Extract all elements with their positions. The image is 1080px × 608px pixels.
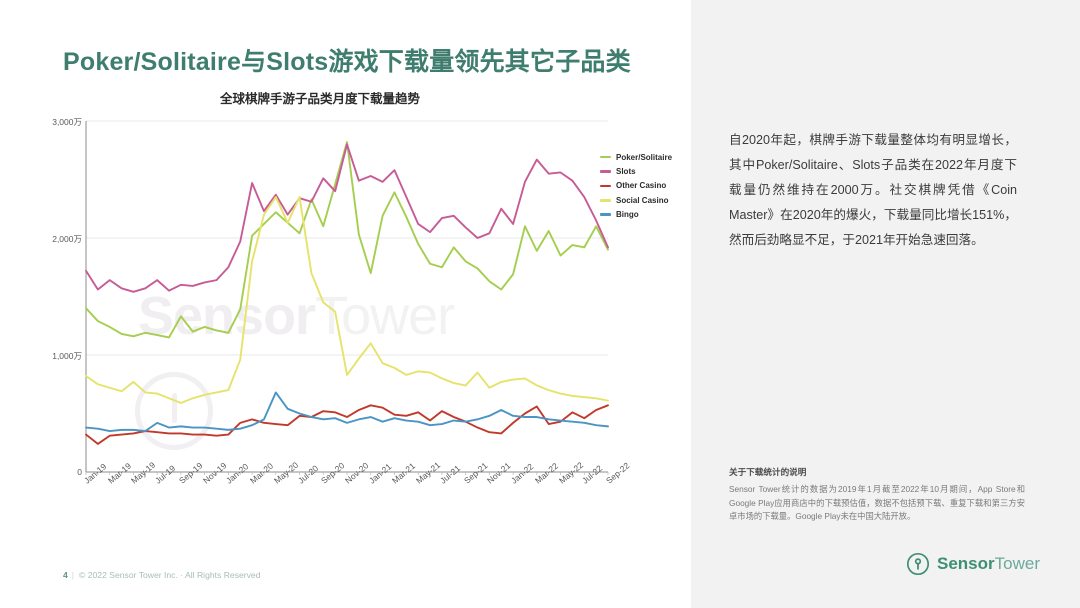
brand-name-bold: Sensor — [937, 554, 995, 573]
footer-left: 4|© 2022 Sensor Tower Inc. · All Rights … — [63, 570, 261, 580]
legend-item-label: Social Casino — [616, 196, 668, 205]
legend-item-label: Slots — [616, 167, 636, 176]
chart-plot-area: SensorTower 01,000万2,000万3,000万 Jan-19Ma… — [30, 115, 680, 488]
y-axis-tick-label: 3,000万 — [30, 116, 82, 128]
footnote-body: Sensor Tower统计的数据为2019年1月截至2022年10月期间，Ap… — [729, 483, 1025, 524]
legend-item-other-casino[interactable]: Other Casino — [600, 179, 672, 193]
footnote-title: 关于下载统计的说明 — [729, 466, 1025, 478]
sensor-tower-logo-icon — [906, 552, 930, 576]
y-axis-tick-label: 0 — [30, 467, 82, 477]
legend-item-bingo[interactable]: Bingo — [600, 208, 672, 222]
legend-item-poker-solitaire[interactable]: Poker/Solitaire — [600, 150, 672, 164]
footer-separator: | — [72, 570, 74, 580]
copyright-text: © 2022 Sensor Tower Inc. · All Rights Re… — [79, 570, 260, 580]
slide-root: Poker/Solitaire与Slots游戏下载量领先其它子品类 全球棋牌手游… — [0, 0, 1080, 608]
brand-logo: SensorTower — [906, 552, 1040, 576]
page-title: Poker/Solitaire与Slots游戏下载量领先其它子品类 — [63, 42, 631, 78]
legend-item-slots[interactable]: Slots — [600, 164, 672, 178]
y-axis-tick-label: 1,000万 — [30, 350, 82, 362]
legend-color-swatch-icon — [600, 185, 611, 188]
brand-name-light: Tower — [995, 554, 1040, 573]
chart-legend: Poker/SolitaireSlotsOther CasinoSocial C… — [600, 150, 672, 222]
page-number: 4 — [63, 570, 68, 580]
legend-item-label: Other Casino — [616, 181, 666, 190]
legend-color-swatch-icon — [600, 213, 611, 216]
legend-item-social-casino[interactable]: Social Casino — [600, 193, 672, 207]
brand-name: SensorTower — [937, 554, 1040, 574]
chart-block: 全球棋牌手游子品类月度下载量趋势 SensorTower 01,000万2,00… — [30, 88, 680, 488]
line-chart-svg — [30, 115, 680, 488]
chart-title: 全球棋牌手游子品类月度下载量趋势 — [220, 88, 420, 107]
legend-color-swatch-icon — [600, 199, 611, 202]
legend-item-label: Bingo — [616, 210, 639, 219]
legend-color-swatch-icon — [600, 170, 611, 173]
legend-color-swatch-icon — [600, 156, 611, 159]
footnote-block: 关于下载统计的说明 Sensor Tower统计的数据为2019年1月截至202… — [729, 466, 1025, 524]
body-paragraph: 自2020年起，棋牌手游下载量整体均有明显增长，其中Poker/Solitair… — [729, 128, 1017, 253]
legend-item-label: Poker/Solitaire — [616, 153, 672, 162]
y-axis-tick-label: 2,000万 — [30, 233, 82, 245]
